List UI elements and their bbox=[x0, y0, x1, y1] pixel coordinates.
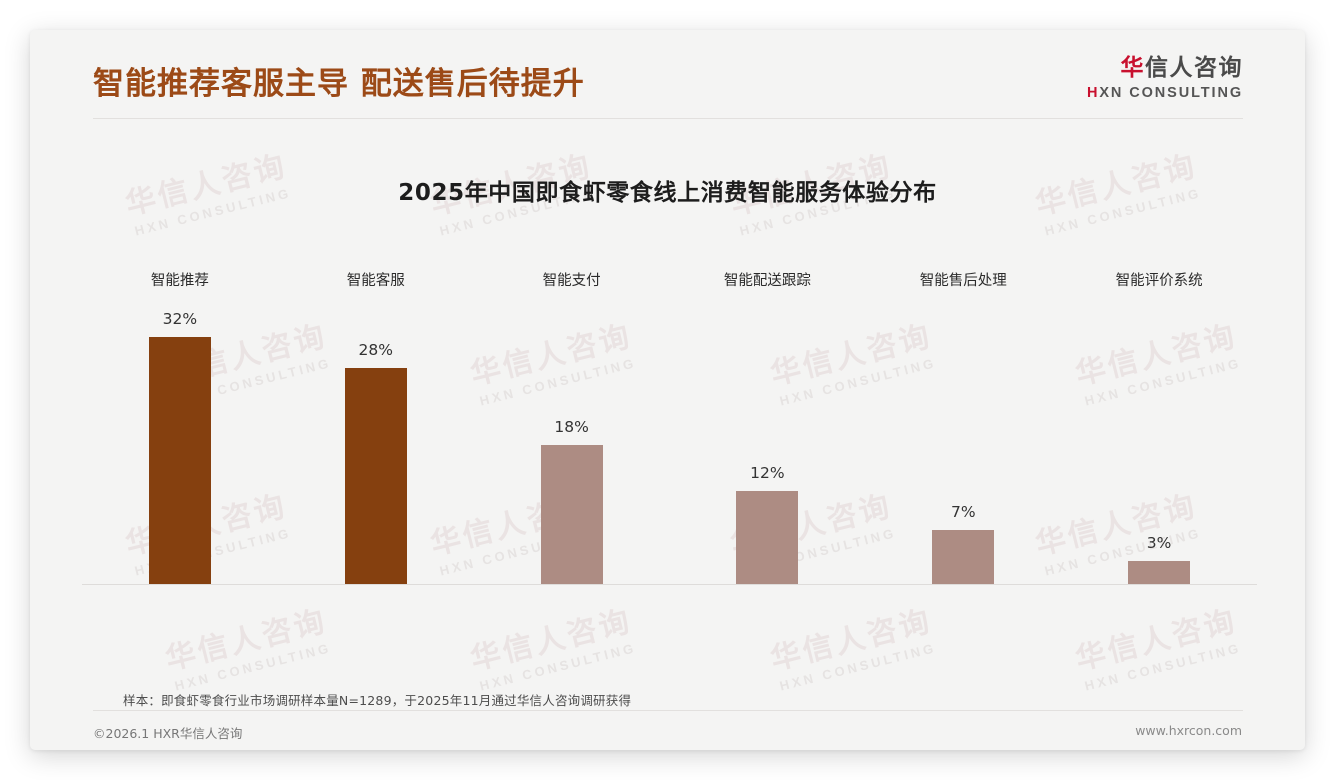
bar-value-label: 12% bbox=[750, 464, 784, 482]
bar-value-label: 7% bbox=[951, 503, 976, 521]
header-divider bbox=[93, 118, 1243, 119]
slide-footer: ©2026.1 HXR华信人咨询 www.hxrcon.com bbox=[30, 718, 1305, 750]
bar-group[interactable]: 28% bbox=[336, 341, 416, 584]
bar-value-label: 32% bbox=[163, 310, 197, 328]
logo-chinese-accent: 华 bbox=[1121, 55, 1146, 81]
watermark-english: HXN CONSULTING bbox=[776, 640, 940, 694]
bar-value-label: 28% bbox=[359, 341, 393, 359]
bar-group[interactable]: 12% bbox=[727, 464, 807, 584]
bar-group[interactable]: 3% bbox=[1119, 534, 1199, 584]
axis-label-4: 智能售后处理 bbox=[920, 269, 1007, 290]
company-logo: 华信人咨询 HXN CONSULTING bbox=[1087, 57, 1243, 101]
axis-label-2: 智能支付 bbox=[543, 269, 601, 290]
watermark-english: HXN CONSULTING bbox=[476, 640, 640, 694]
chart-container: 2025年中国即食虾零食线上消费智能服务体验分布 32%智能推荐28%智能客服1… bbox=[30, 125, 1305, 645]
logo-english: HXN CONSULTING bbox=[1087, 86, 1243, 101]
logo-chinese: 华信人咨询 bbox=[1087, 57, 1243, 80]
bar[interactable] bbox=[932, 530, 994, 584]
bar-group[interactable]: 32% bbox=[140, 310, 220, 584]
logo-english-rest: XN CONSULTING bbox=[1099, 85, 1243, 101]
axis-label-3: 智能配送跟踪 bbox=[724, 269, 811, 290]
chart-baseline bbox=[82, 584, 1257, 585]
bar[interactable] bbox=[149, 337, 211, 584]
watermark-english: HXN CONSULTING bbox=[171, 640, 335, 694]
bar-chart-plot: 32%智能推荐28%智能客服18%智能支付12%智能配送跟踪7%智能售后处理3%… bbox=[82, 245, 1257, 585]
axis-label-0: 智能推荐 bbox=[151, 269, 209, 290]
chart-title: 2025年中国即食虾零食线上消费智能服务体验分布 bbox=[30, 173, 1305, 207]
axis-label-5: 智能评价系统 bbox=[1116, 269, 1203, 290]
axis-label-1: 智能客服 bbox=[347, 269, 405, 290]
copyright-text: ©2026.1 HXR华信人咨询 bbox=[93, 723, 242, 742]
bar-group[interactable]: 7% bbox=[923, 503, 1003, 584]
bar-value-label: 18% bbox=[554, 418, 588, 436]
page-title: 智能推荐客服主导 配送售后待提升 bbox=[93, 58, 585, 103]
slide-header: 智能推荐客服主导 配送售后待提升 华信人咨询 HXN CONSULTING bbox=[30, 30, 1305, 108]
bar[interactable] bbox=[736, 491, 798, 584]
logo-chinese-rest: 信人咨询 bbox=[1145, 55, 1243, 81]
bar[interactable] bbox=[541, 445, 603, 584]
watermark-english: HXN CONSULTING bbox=[1081, 640, 1245, 694]
footer-divider bbox=[93, 710, 1243, 711]
website-text: www.hxrcon.com bbox=[1135, 723, 1242, 738]
bar[interactable] bbox=[345, 368, 407, 584]
slide-card: 华信人咨询HXN CONSULTING华信人咨询HXN CONSULTING华信… bbox=[30, 30, 1305, 750]
bar-value-label: 3% bbox=[1147, 534, 1172, 552]
logo-english-accent: H bbox=[1087, 85, 1099, 101]
sample-footnote: 样本：即食虾零食行业市场调研样本量N=1289，于2025年11月通过华信人咨询… bbox=[123, 690, 631, 709]
bar-group[interactable]: 18% bbox=[532, 418, 612, 584]
bar[interactable] bbox=[1128, 561, 1190, 584]
